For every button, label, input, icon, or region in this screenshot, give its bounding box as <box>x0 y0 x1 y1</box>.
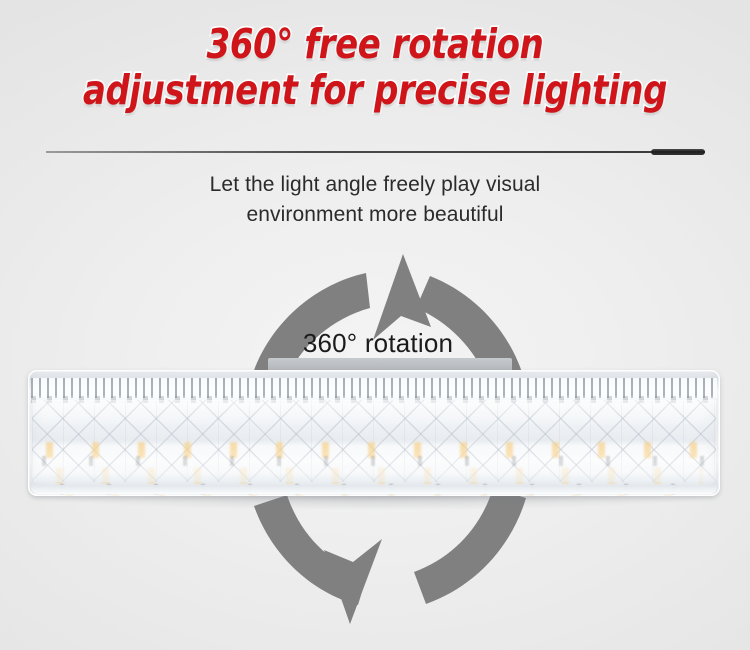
crystal-diffuser <box>32 400 716 482</box>
subtitle: Let the light angle freely play visual e… <box>0 170 750 230</box>
headline-line-1: 360° free rotation <box>30 24 720 66</box>
lamp-body <box>28 370 720 496</box>
divider <box>46 148 705 156</box>
lamp-top-rim <box>31 378 717 398</box>
lamp-bottom-lip <box>31 485 717 494</box>
subtitle-line-1: Let the light angle freely play visual <box>0 170 750 200</box>
product-lamp <box>0 356 750 508</box>
headline: 360° free rotation adjustment for precis… <box>0 24 750 112</box>
rotation-arc-bottom <box>254 488 526 624</box>
crystal-gloss <box>32 400 716 482</box>
divider-line <box>46 151 705 153</box>
subtitle-line-2: environment more beautiful <box>0 200 750 230</box>
product-feature-banner: 360° free rotation adjustment for precis… <box>0 0 750 650</box>
headline-line-2: adjustment for precise lighting <box>30 70 720 112</box>
divider-cap <box>651 149 705 155</box>
